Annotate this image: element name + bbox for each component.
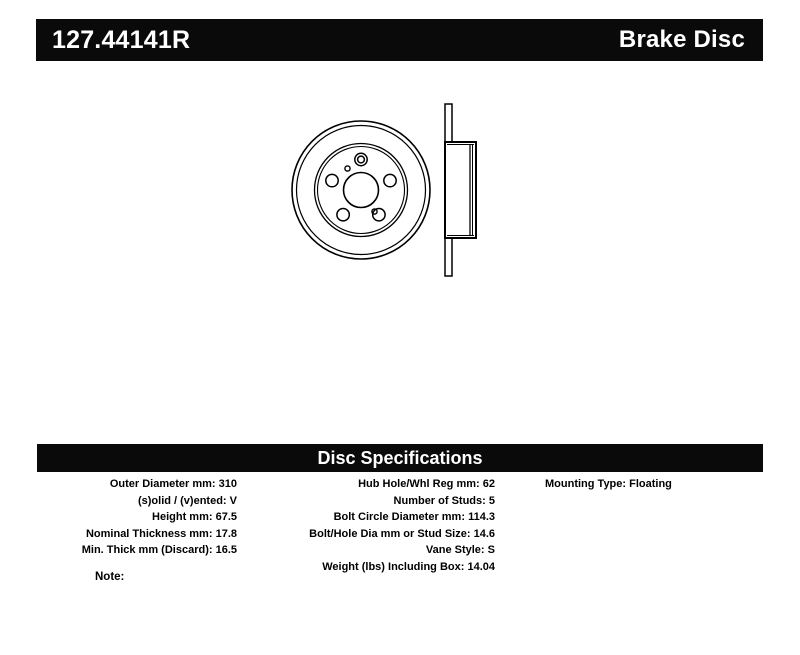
spec-label: Number of Studs: — [394, 495, 486, 507]
rotor-hat-circle — [318, 147, 405, 234]
disc-specifications-bar: Disc Specifications — [37, 444, 763, 472]
brake-rotor-side-profile-view — [445, 104, 476, 276]
brake-rotor-face-view — [292, 121, 430, 259]
spec-row: Nominal Thickness mm: 17.8 — [37, 526, 237, 543]
note-label: Note: — [95, 571, 124, 583]
hat-flange-upper — [445, 104, 452, 142]
spec-label: Vane Style: — [426, 544, 485, 556]
product-type-title: Brake Disc — [619, 28, 745, 52]
lug-hole — [355, 153, 367, 165]
spec-row: Weight (lbs) Including Box: 14.04 — [243, 559, 495, 576]
spec-value: 62 — [483, 478, 495, 490]
spec-row: (s)olid / (v)ented: V — [37, 493, 237, 510]
spec-label: Min. Thick mm (Discard): — [82, 544, 213, 556]
spec-label: Bolt Circle Diameter mm: — [334, 511, 465, 523]
spec-row: Number of Studs: 5 — [243, 493, 495, 510]
lug-hole-inner-ring — [358, 156, 365, 163]
spec-value: 5 — [489, 495, 495, 507]
hat-flange-lower — [445, 238, 452, 276]
spec-value: 17.8 — [216, 528, 237, 540]
spec-label: Hub Hole/Whl Reg mm: — [358, 478, 480, 490]
spec-row: Hub Hole/Whl Reg mm: 62 — [243, 476, 495, 493]
lug-hole — [337, 209, 349, 221]
spec-column-right: Mounting Type: Floating — [507, 476, 763, 493]
spec-row: Mounting Type: Floating — [507, 476, 763, 493]
drawing-area — [36, 80, 763, 420]
lug-hole — [326, 174, 338, 186]
spec-label: Mounting Type: — [545, 478, 626, 490]
spec-value: 16.5 — [216, 544, 237, 556]
rotor-friction-ring-outer-circle — [297, 126, 426, 255]
rotor-outer-edge-circle — [292, 121, 430, 259]
disc-specifications-title: Disc Specifications — [317, 449, 482, 467]
spec-value: 14.04 — [467, 561, 495, 573]
header-banner: 127.44141R Brake Disc — [36, 19, 763, 61]
specifications-table: Outer Diameter mm: 310(s)olid / (v)ented… — [37, 476, 763, 586]
spec-label: Nominal Thickness mm: — [86, 528, 213, 540]
spec-label: Weight (lbs) Including Box: — [322, 561, 464, 573]
spec-label: Outer Diameter mm: — [110, 478, 216, 490]
alignment-pin-hole — [345, 166, 350, 171]
lug-hole — [384, 174, 396, 186]
spec-column-left: Outer Diameter mm: 310(s)olid / (v)ented… — [37, 476, 237, 559]
spec-row: Height mm: 67.5 — [37, 509, 237, 526]
spec-value: 67.5 — [216, 511, 237, 523]
spec-row: Outer Diameter mm: 310 — [37, 476, 237, 493]
part-number: 127.44141R — [52, 28, 190, 53]
spec-row: Vane Style: S — [243, 542, 495, 559]
spec-value: S — [488, 544, 495, 556]
rotor-body-outline — [445, 142, 476, 238]
center-hub-bore — [344, 173, 379, 208]
spec-value: 114.3 — [468, 511, 495, 523]
spec-value: V — [230, 495, 237, 507]
note-block: Note: — [95, 571, 124, 583]
rotor-friction-ring-inner-circle — [315, 144, 408, 237]
brake-rotor-technical-drawing — [291, 98, 526, 283]
spec-label: Bolt/Hole Dia mm or Stud Size: — [309, 528, 470, 540]
spec-label: (s)olid / (v)ented: — [138, 495, 227, 507]
spec-value: 310 — [219, 478, 237, 490]
spec-value: Floating — [629, 478, 672, 490]
spec-row: Bolt Circle Diameter mm: 114.3 — [243, 509, 495, 526]
spec-column-middle: Hub Hole/Whl Reg mm: 62Number of Studs: … — [243, 476, 495, 575]
spec-value: 14.6 — [474, 528, 495, 540]
spec-row: Min. Thick mm (Discard): 16.5 — [37, 542, 237, 559]
spec-row: Bolt/Hole Dia mm or Stud Size: 14.6 — [243, 526, 495, 543]
spec-label: Height mm: — [152, 511, 213, 523]
